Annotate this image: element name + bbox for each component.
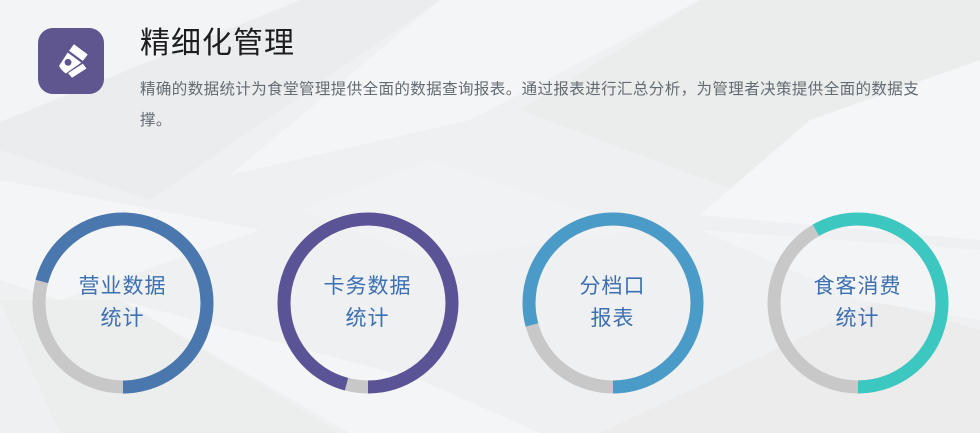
donut-arc-1: [284, 219, 452, 387]
page-title: 精细化管理: [140, 24, 938, 64]
donut-chart-3[interactable]: 食客消费 统计: [760, 205, 956, 401]
donut-chart-1[interactable]: 卡务数据 统计: [270, 205, 466, 401]
donut-cell-1: 卡务数据 统计: [245, 205, 490, 415]
feature-panel: 精细化管理 精确的数据统计为食堂管理提供全面的数据查询报表。通过报表进行汇总分析…: [0, 0, 980, 433]
donut-chart-0[interactable]: 营业数据 统计: [25, 205, 221, 401]
donut-svg-0: [25, 205, 221, 401]
donut-cell-0: 营业数据 统计: [0, 205, 245, 415]
feature-donut-row: 营业数据 统计 卡务数据 统计: [0, 205, 980, 415]
donut-cell-3: 食客消费 统计: [735, 205, 980, 415]
donut-svg-1: [270, 205, 466, 401]
donut-cell-2: 分档口 报表: [490, 205, 735, 415]
pen-nib-icon: [38, 28, 104, 94]
header-text: 精细化管理 精确的数据统计为食堂管理提供全面的数据查询报表。通过报表进行汇总分析…: [140, 24, 938, 136]
header: 精细化管理 精确的数据统计为食堂管理提供全面的数据查询报表。通过报表进行汇总分析…: [38, 24, 938, 136]
donut-svg-3: [760, 205, 956, 401]
donut-svg-2: [515, 205, 711, 401]
page-description: 精确的数据统计为食堂管理提供全面的数据查询报表。通过报表进行汇总分析，为管理者决…: [140, 74, 938, 136]
donut-chart-2[interactable]: 分档口 报表: [515, 205, 711, 401]
